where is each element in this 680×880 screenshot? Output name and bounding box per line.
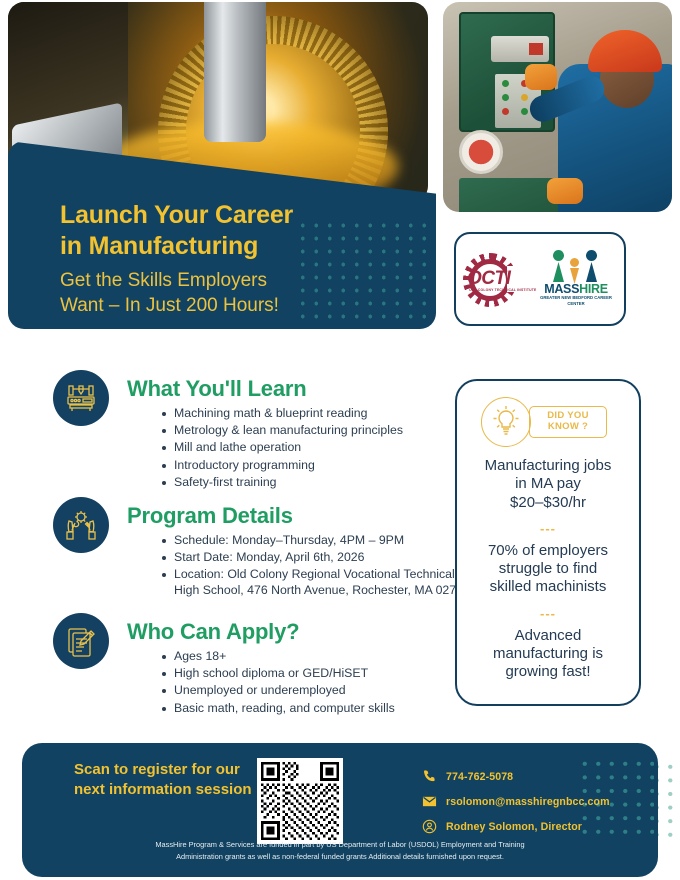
masshire-tagline: GREATER NEW BEDFORD CAREER CENTER: [533, 295, 619, 306]
masshire-figure-right: [586, 250, 597, 282]
list-item: Location: Old Colony Regional Vocational…: [161, 567, 481, 598]
section-program-details: Program Details Schedule: Monday–Thursda…: [53, 497, 443, 617]
document-pencil-icon: [53, 613, 109, 669]
hands-tools-icon: [53, 497, 109, 553]
fact-separator: ---: [540, 606, 556, 621]
list-item: Basic math, reading, and computer skills: [161, 701, 481, 717]
hero-title-line1: Launch Your Career: [60, 200, 390, 231]
panel-display: [491, 36, 549, 62]
machine-shaft: [204, 2, 266, 142]
section-heading: What You'll Learn: [127, 376, 306, 402]
list-item: Introductory programming: [161, 458, 481, 474]
hero-title: Launch Your Career in Manufacturing: [60, 200, 390, 262]
masshire-hire: HIRE: [579, 282, 608, 296]
masshire-mass: MASS: [544, 282, 579, 296]
cnc-machine-icon: [53, 370, 109, 426]
did-you-know-badge: DID YOU KNOW ?: [473, 397, 623, 447]
list-item: Unemployed or underemployed: [161, 683, 481, 699]
registration-qr-code[interactable]: [257, 758, 343, 844]
list-item: Safety-first training: [161, 475, 481, 491]
list-item: Mill and lathe operation: [161, 440, 481, 456]
emergency-stop: [459, 130, 503, 174]
section-heading: Who Can Apply?: [127, 619, 299, 645]
fact-separator: ---: [540, 521, 556, 536]
masshire-logo: MASSHIRE GREATER NEW BEDFORD CAREER CENT…: [533, 248, 619, 310]
octi-logo: OCTI OLD COLONY TECHNICAL INSTITUTE: [461, 250, 523, 308]
phone-icon: [422, 769, 437, 784]
section-list: Machining math & blueprint reading Metro…: [161, 406, 481, 492]
masshire-wordmark: MASSHIRE: [533, 282, 619, 296]
footer-panel: Scan to register for our next informatio…: [22, 743, 658, 877]
hero-title-line2: in Manufacturing: [60, 231, 390, 262]
section-heading: Program Details: [127, 503, 293, 529]
did-you-know-card: DID YOU KNOW ? Manufacturing jobs in MA …: [455, 379, 641, 706]
worker-glove: [525, 64, 557, 90]
list-item: High school diploma or GED/HiSET: [161, 666, 481, 682]
masshire-figure-left: [553, 250, 564, 282]
octi-tagline: OLD COLONY TECHNICAL INSTITUTE: [469, 288, 536, 292]
section-who-can-apply: Who Can Apply? Ages 18+ High school dipl…: [53, 613, 443, 723]
fact-2: 70% of employers struggle to find skille…: [457, 542, 639, 597]
lightbulb-icon: [481, 397, 531, 447]
fact-1: Manufacturing jobs in MA pay $20–$30/hr: [457, 457, 639, 512]
hero-photo-worker: [443, 2, 672, 212]
section-what-youll-learn: What You'll Learn Machining math & bluep…: [53, 370, 443, 500]
scan-to-register-text: Scan to register for our next informatio…: [74, 760, 254, 800]
section-list: Ages 18+ High school diploma or GED/HiSE…: [161, 649, 481, 718]
person-icon: [422, 819, 437, 834]
funding-disclaimer: MassHire Program & Services are funded i…: [22, 839, 658, 863]
badge-label: DID YOU KNOW ?: [529, 406, 607, 438]
list-item: Metrology & lean manufacturing principle…: [161, 423, 481, 439]
contact-phone[interactable]: 774-762-5078: [422, 769, 610, 784]
hero-sub-line2: Want – In Just 200 Hours!: [60, 294, 400, 319]
phone-value: 774-762-5078: [446, 771, 513, 783]
list-item: Start Date: Monday, April 6th, 2026: [161, 550, 481, 566]
contact-director: Rodney Solomon, Director: [422, 819, 610, 834]
list-item: Schedule: Monday–Thursday, 4PM – 9PM: [161, 533, 481, 549]
badge-line2: KNOW ?: [548, 422, 588, 433]
worker-glove-lower: [547, 178, 583, 204]
contact-email[interactable]: rsolomon@masshiregnbcc.com: [422, 794, 610, 809]
hero-sub-line1: Get the Skills Employers: [60, 269, 400, 294]
section-list: Schedule: Monday–Thursday, 4PM – 9PM Sta…: [161, 533, 481, 600]
hero-subtitle: Get the Skills Employers Want – In Just …: [60, 269, 400, 318]
list-item: Ages 18+: [161, 649, 481, 665]
hard-hat: [588, 30, 662, 72]
disclaimer-line2: Administration grants as well as non-fed…: [84, 851, 596, 863]
director-value: Rodney Solomon, Director: [446, 821, 582, 833]
disclaimer-line1: MassHire Program & Services are funded i…: [84, 839, 596, 851]
email-icon: [422, 794, 437, 809]
fact-3: Advanced manufacturing is growing fast!: [457, 627, 639, 682]
masshire-figure-center: [570, 258, 579, 284]
contact-block: 774-762-5078 rsolomon@masshiregnbcc.com …: [422, 769, 610, 844]
octi-wordmark: OCTI: [467, 268, 510, 290]
logo-card: OCTI OLD COLONY TECHNICAL INSTITUTE MASS…: [454, 232, 626, 326]
list-item: Machining math & blueprint reading: [161, 406, 481, 422]
flyer-page: Launch Your Career in Manufacturing Get …: [0, 0, 680, 880]
email-value: rsolomon@masshiregnbcc.com: [446, 796, 610, 808]
